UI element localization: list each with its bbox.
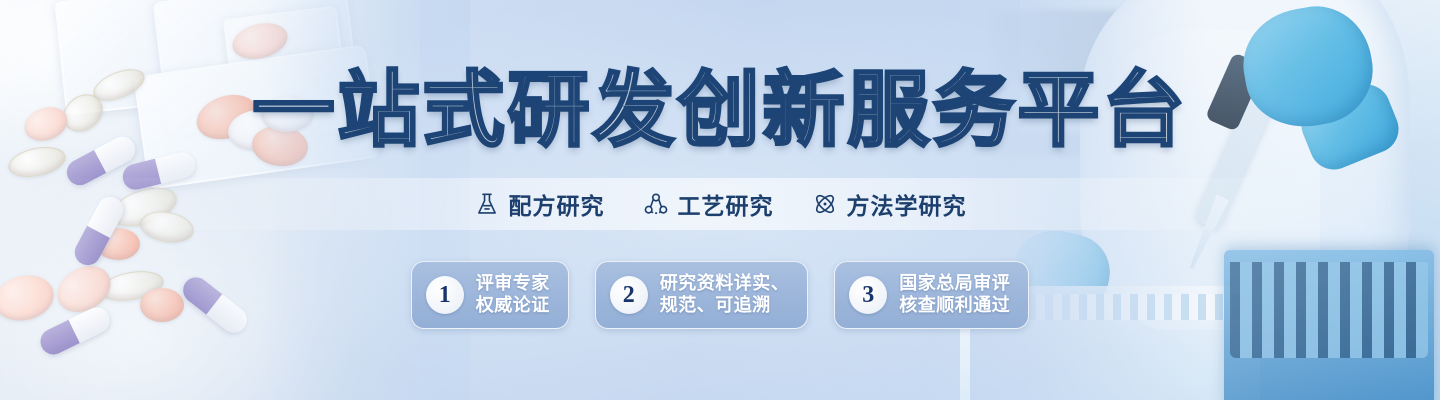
atom-icon — [812, 191, 838, 217]
service-label: 工艺研究 — [678, 187, 774, 221]
feature-line-1: 评审专家 — [476, 273, 550, 295]
feature-text: 研究资料详实、 规范、可追溯 — [660, 273, 790, 317]
feature-line-2: 权威论证 — [476, 295, 550, 317]
feature-line-2: 规范、可追溯 — [660, 295, 790, 317]
feature-text: 评审专家 权威论证 — [476, 273, 550, 317]
service-list: 配方研究 工艺研究 方法学研究 — [0, 180, 1440, 228]
hero-banner: 一站式研发创新服务平台 配方研究 工艺研究 — [0, 0, 1440, 400]
flask-icon — [474, 191, 500, 217]
feature-text: 国家总局审评 核查顺利通过 — [899, 273, 1010, 317]
feature-number: 1 — [426, 276, 464, 314]
feature-card-list: 1 评审专家 权威论证 2 研究资料详实、 规范、可追溯 3 国家总局审评 核查… — [0, 261, 1440, 329]
feature-card-2[interactable]: 2 研究资料详实、 规范、可追溯 — [595, 261, 809, 329]
feature-card-3[interactable]: 3 国家总局审评 核查顺利通过 — [834, 261, 1029, 329]
molecule-icon — [643, 191, 669, 217]
feature-number: 2 — [610, 276, 648, 314]
service-label: 方法学研究 — [847, 187, 967, 221]
banner-title: 一站式研发创新服务平台 — [252, 70, 1187, 152]
feature-number: 3 — [849, 276, 887, 314]
feature-line-1: 国家总局审评 — [899, 273, 1010, 295]
service-item-methodology[interactable]: 方法学研究 — [812, 187, 967, 221]
service-label: 配方研究 — [509, 187, 605, 221]
service-item-process[interactable]: 工艺研究 — [643, 187, 774, 221]
banner-content: 一站式研发创新服务平台 配方研究 工艺研究 — [0, 0, 1440, 400]
feature-card-1[interactable]: 1 评审专家 权威论证 — [411, 261, 569, 329]
service-item-formulation[interactable]: 配方研究 — [474, 187, 605, 221]
feature-line-1: 研究资料详实、 — [660, 273, 790, 295]
feature-line-2: 核查顺利通过 — [899, 295, 1010, 317]
